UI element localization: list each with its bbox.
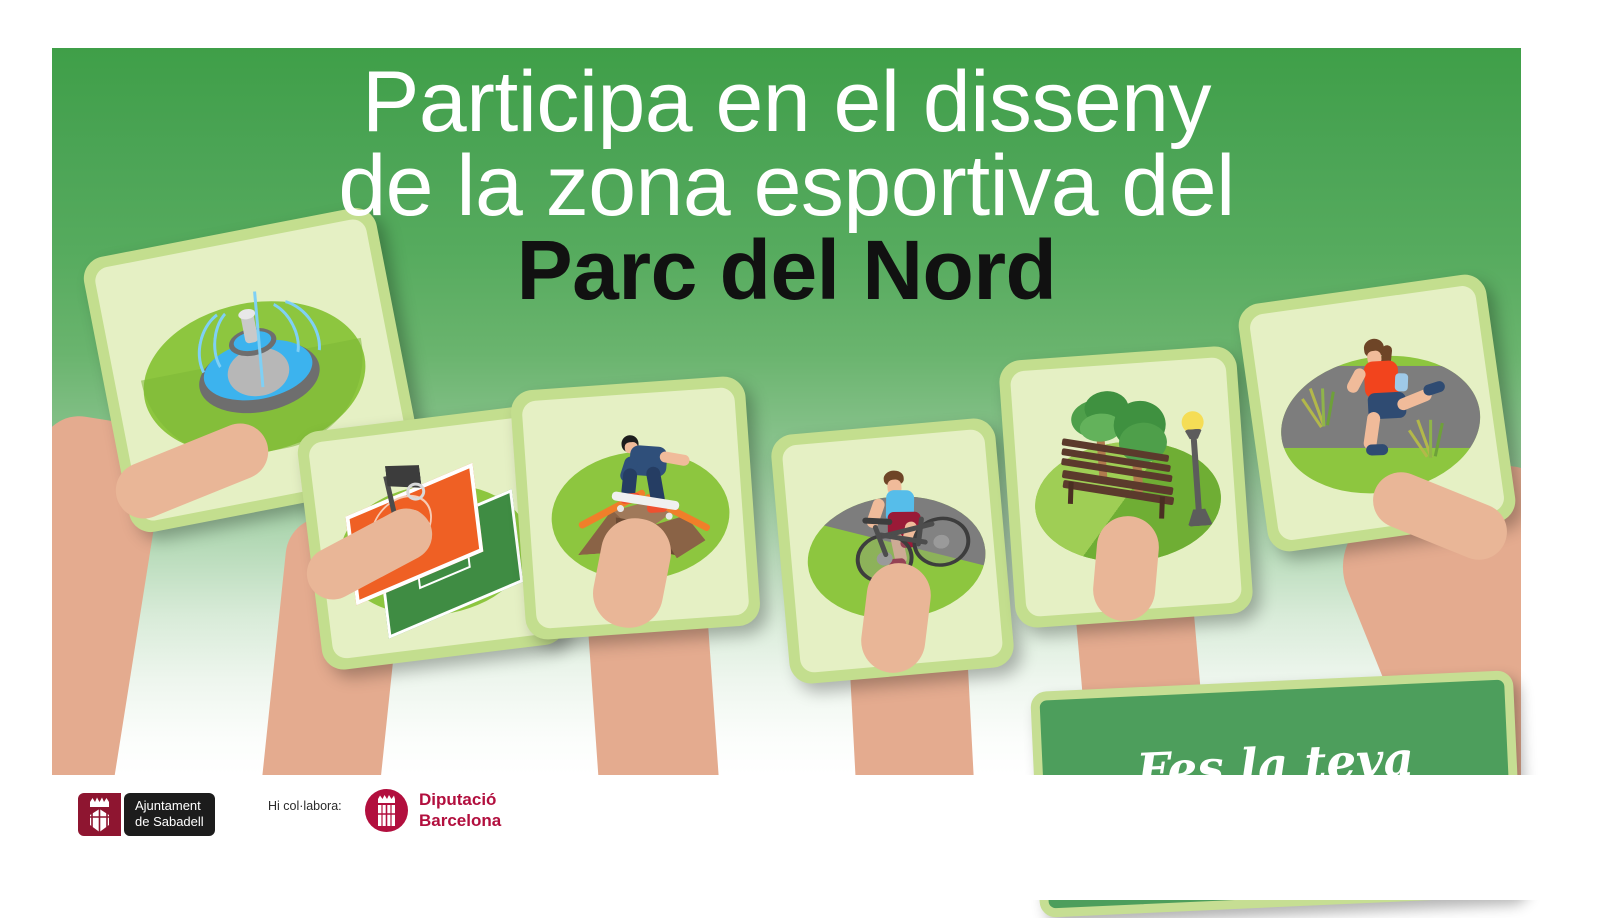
runner-shoe-front (1366, 444, 1388, 456)
diputacio-crest-icon (365, 789, 408, 832)
sabadell-shield-icon (78, 793, 121, 836)
diputacio-line-2: Barcelona (419, 811, 501, 830)
collaborator-label: Hi col·labora: (268, 799, 342, 813)
grass-tuft-left (1299, 384, 1344, 431)
bench-leg-left (1068, 482, 1074, 504)
ajuntament-wordmark: Ajuntament de Sabadell (124, 793, 215, 836)
diputacio-line-1: Diputació (419, 790, 496, 809)
grass-tuft-right (1406, 415, 1451, 462)
runner-armband (1395, 373, 1409, 391)
diputacio-wordmark: Diputació Barcelona (419, 790, 501, 830)
poster-background-panel (52, 48, 1521, 775)
poster-root: Participa en el disseny de la zona espor… (0, 0, 1600, 900)
diputacio-barcelona-logo[interactable]: Diputació Barcelona (365, 789, 501, 832)
ajuntament-sabadell-logo[interactable]: Ajuntament de Sabadell (78, 793, 215, 836)
ajuntament-line-1: Ajuntament (135, 798, 201, 813)
bench-leg-right (1159, 496, 1165, 518)
ajuntament-line-2: de Sabadell (135, 814, 204, 829)
footer-logos: Ajuntament de Sabadell Hi col·labora: Di… (0, 775, 1600, 900)
